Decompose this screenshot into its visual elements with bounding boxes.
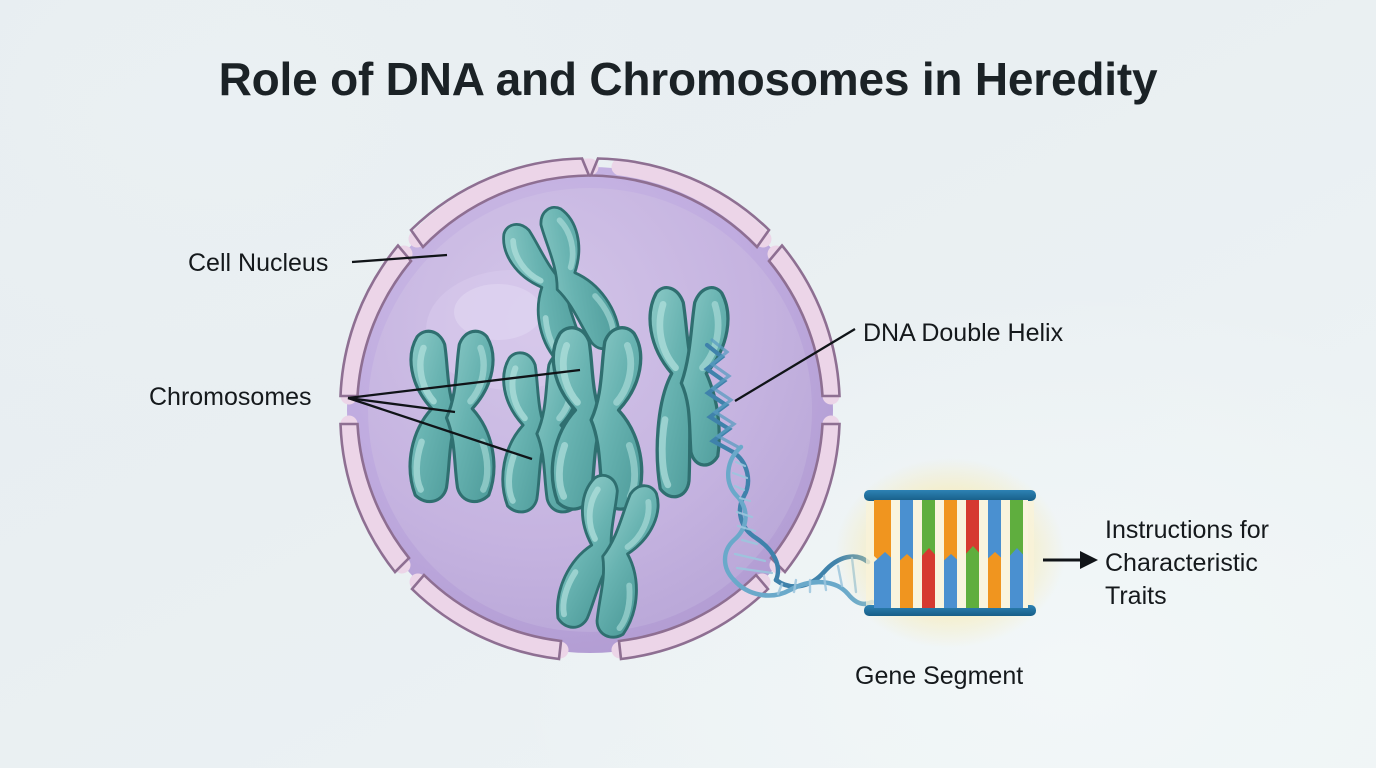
label-chromosomes: Chromosomes [149,381,312,413]
instructions-line-2: Characteristic [1105,547,1320,580]
label-gene-segment: Gene Segment [855,660,1023,692]
gene-rail-top [864,490,1036,501]
label-instructions-for-traits: Instructions for Characteristic Traits [1105,514,1320,613]
gene-segment-graphic [835,458,1065,648]
base-pair-columns [874,496,1030,612]
instructions-line-1: Instructions for [1105,514,1320,547]
page-title: Role of DNA and Chromosomes in Heredity [0,52,1376,106]
diagram-canvas: Role of DNA and Chromosomes in Heredity … [0,0,1376,768]
label-dna-double-helix: DNA Double Helix [863,317,1063,349]
instructions-line-3: Traits [1105,580,1320,613]
label-cell-nucleus: Cell Nucleus [188,247,328,279]
